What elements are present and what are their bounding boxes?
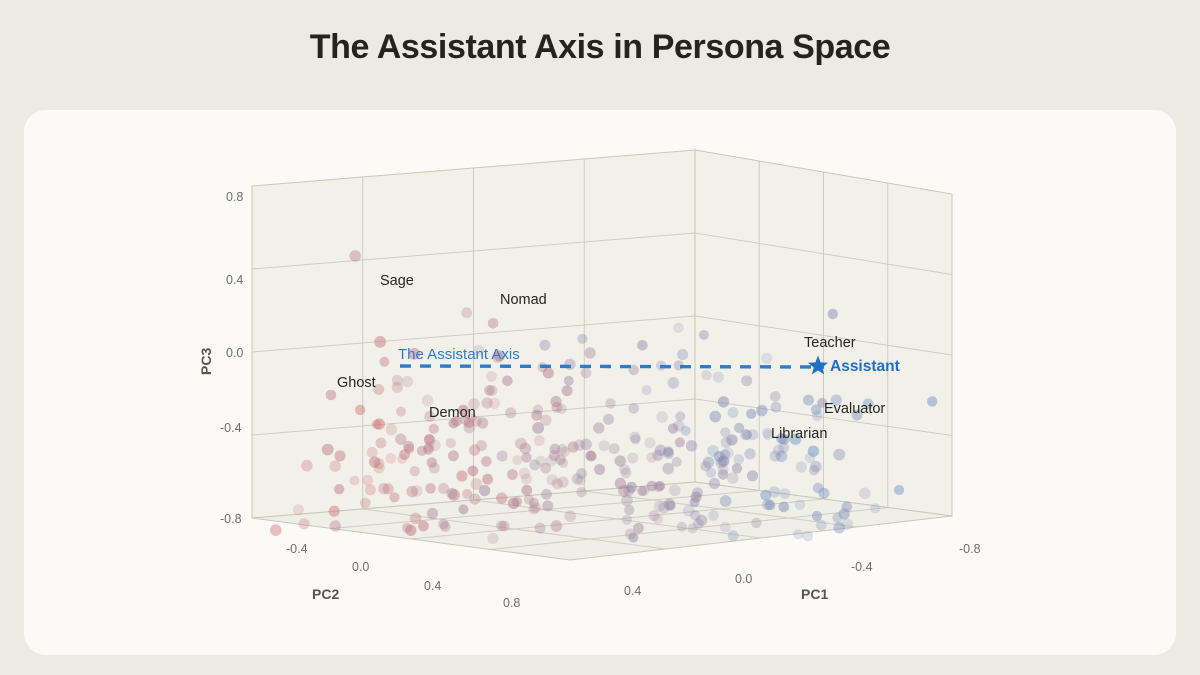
- pc2-tick-3: 0.8: [503, 596, 520, 610]
- pc3-axis-label: PC3: [198, 348, 214, 375]
- scatter-plot-3d[interactable]: 0.8 0.4 0.0 -0.4 -0.8 PC3 -0.4 0.0 0.4 0…: [24, 110, 1176, 655]
- pc1-tick-3: -0.8: [959, 542, 981, 556]
- annotation-demon: Demon: [429, 405, 476, 421]
- plot-canvas: [24, 110, 1176, 655]
- pc1-axis-label: PC1: [801, 586, 828, 602]
- pc3-tick-4: -0.8: [220, 512, 242, 526]
- pc3-tick-1: 0.4: [226, 273, 243, 287]
- chart-card: 0.8 0.4 0.0 -0.4 -0.8 PC3 -0.4 0.0 0.4 0…: [24, 110, 1176, 655]
- annotation-teacher: Teacher: [804, 335, 856, 351]
- assistant-point-label: Assistant: [830, 358, 900, 376]
- annotation-evaluator: Evaluator: [824, 401, 885, 417]
- pc2-axis-label: PC2: [312, 586, 339, 602]
- pc3-tick-0: 0.8: [226, 190, 243, 204]
- pc2-tick-0: -0.4: [286, 542, 308, 556]
- pc1-tick-2: -0.4: [851, 560, 873, 574]
- assistant-axis-annotation: The Assistant Axis: [398, 346, 520, 363]
- annotation-sage: Sage: [380, 273, 414, 289]
- pc3-tick-2: 0.0: [226, 346, 243, 360]
- pc1-tick-1: 0.0: [735, 572, 752, 586]
- page-title: The Assistant Axis in Persona Space: [0, 28, 1200, 67]
- pc3-tick-3: -0.4: [220, 421, 242, 435]
- pc2-tick-2: 0.4: [424, 579, 441, 593]
- pc2-tick-1: 0.0: [352, 560, 369, 574]
- annotation-nomad: Nomad: [500, 292, 547, 308]
- annotation-ghost: Ghost: [337, 375, 376, 391]
- pc1-tick-0: 0.4: [624, 584, 641, 598]
- annotation-librarian: Librarian: [771, 426, 827, 442]
